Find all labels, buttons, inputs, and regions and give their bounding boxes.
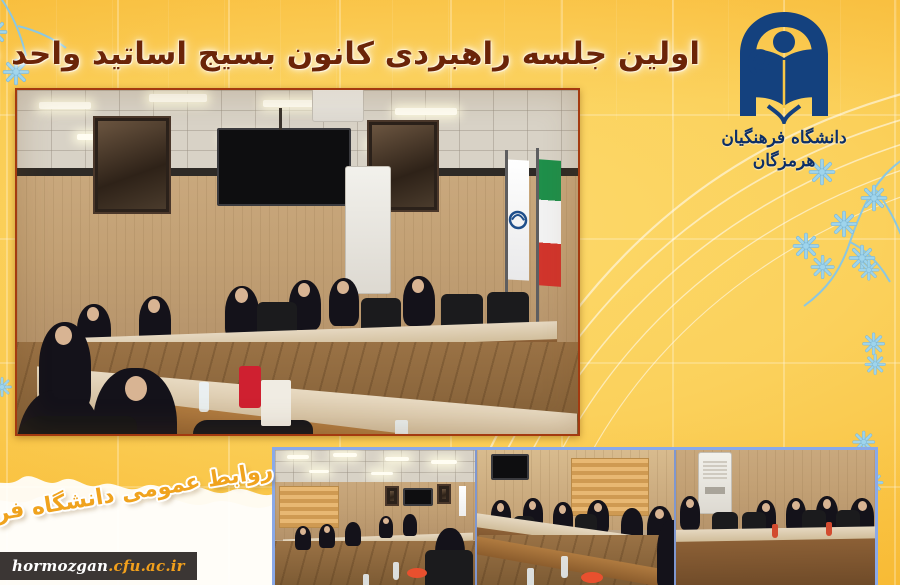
poster-canvas: اولین جلسه راهبردی کانون بسیج اساتید واح… xyxy=(0,0,900,585)
logo-text-line-1: دانشگاه فرهنگیان xyxy=(694,128,874,148)
main-photo xyxy=(15,88,580,436)
ceiling-speaker xyxy=(312,88,364,122)
air-conditioner xyxy=(345,166,391,294)
water-bottle xyxy=(199,382,209,412)
window-blind xyxy=(279,486,339,528)
university-flag xyxy=(507,159,529,280)
logo-text-line-2: هرمزگان xyxy=(694,151,874,171)
iran-flag xyxy=(537,159,561,287)
strip-photo-2 xyxy=(475,450,674,585)
backpack xyxy=(193,420,313,436)
strip-photo-1 xyxy=(275,450,475,585)
university-logo-icon xyxy=(724,6,844,124)
water-bottle xyxy=(395,420,408,436)
portrait-frame-left xyxy=(93,116,171,214)
url-suffix: .cfu.ac.ir xyxy=(108,557,185,575)
main-photo-scene xyxy=(17,90,578,434)
red-item xyxy=(239,366,261,408)
foreground-chair xyxy=(17,416,137,436)
paper-sheet xyxy=(261,380,291,426)
poster-title: اولین جلسه راهبردی کانون بسیج اساتید واح… xyxy=(60,36,700,72)
url-domain: hormozgan xyxy=(12,557,108,575)
air-conditioner xyxy=(698,452,732,514)
wall-tv xyxy=(217,128,351,206)
photo-strip xyxy=(272,447,878,585)
website-url-badge[interactable]: hormozgan.cfu.ac.ir xyxy=(0,552,197,580)
university-logo-block: دانشگاه فرهنگیان هرمزگان xyxy=(694,6,874,171)
strip-photo-3 xyxy=(674,450,875,585)
